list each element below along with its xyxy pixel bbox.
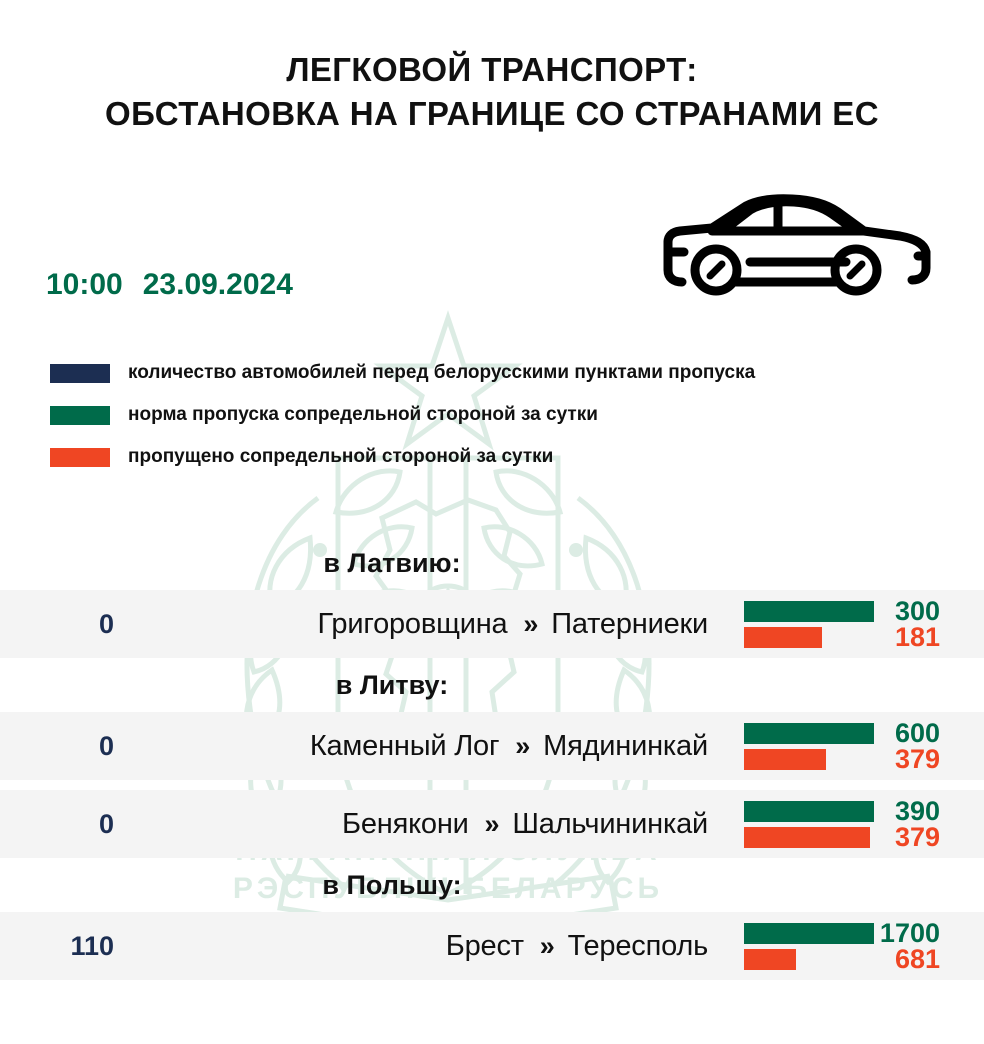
double-chevron-icon: »: [540, 931, 552, 961]
legend: количество автомобилей перед белорусским…: [50, 352, 950, 478]
value-norm: 390: [874, 798, 940, 824]
legend-label-queue: количество автомобилей перед белорусским…: [128, 363, 755, 383]
bar-norm: [744, 923, 874, 944]
value-norm: 1700: [874, 920, 940, 946]
table-row: 0 Григоровщина » Патерниеки 300 181: [0, 590, 984, 658]
bar-group: [744, 801, 874, 848]
legend-label-norm: норма пропуска сопредельной стороной за …: [128, 405, 598, 425]
route-to: Патерниеки: [551, 608, 708, 640]
table-row: 110 Брест » Тересполь 1700 681: [0, 912, 984, 980]
title-line-2: ОБСТАНОВКА НА ГРАНИЦЕ СО СТРАНАМИ ЕС: [0, 92, 984, 136]
double-chevron-icon: »: [485, 809, 497, 839]
value-norm: 300: [874, 598, 940, 624]
legend-swatch-green: [50, 406, 110, 425]
bar-passed: [744, 749, 826, 770]
queue-count: 0: [0, 809, 128, 840]
bar-group: [744, 601, 874, 648]
value-passed: 181: [874, 624, 940, 650]
route: Бенякони » Шальчининкай: [128, 808, 744, 841]
car-icon: [650, 190, 940, 300]
legend-item-passed: пропущено сопредельной стороной за сутки: [50, 436, 950, 478]
route-from: Каменный Лог: [310, 730, 500, 762]
double-chevron-icon: »: [523, 609, 535, 639]
double-chevron-icon: »: [515, 731, 527, 761]
bar-passed: [744, 627, 822, 648]
value-group: 600 379: [874, 720, 984, 772]
route-to: Тересполь: [568, 930, 708, 962]
route-from: Григоровщина: [318, 608, 508, 640]
route-from: Бенякони: [342, 808, 469, 840]
table-row: 0 Бенякони » Шальчининкай 390 379: [0, 790, 984, 858]
title-line-1: ЛЕГКОВОЙ ТРАНСПОРТ:: [0, 48, 984, 92]
value-passed: 379: [874, 824, 940, 850]
route: Брест » Тересполь: [128, 930, 744, 963]
route-to: Мядининкай: [543, 730, 708, 762]
page-title: ЛЕГКОВОЙ ТРАНСПОРТ: ОБСТАНОВКА НА ГРАНИЦ…: [0, 48, 984, 136]
bar-norm: [744, 801, 874, 822]
queue-count: 110: [0, 931, 128, 962]
legend-label-passed: пропущено сопредельной стороной за сутки: [128, 447, 553, 467]
bar-group: [744, 923, 874, 970]
infographic-page: ПАГРАНІЧНАЯ СЛУЖБА РЭСПУБЛІКІ БЕЛАРУСЬ Л…: [0, 0, 984, 1044]
route: Каменный Лог » Мядининкай: [128, 730, 744, 763]
legend-item-norm: норма пропуска сопредельной стороной за …: [50, 394, 950, 436]
value-group: 1700 681: [874, 920, 984, 972]
table-row: 0 Каменный Лог » Мядининкай 600 379: [0, 712, 984, 780]
value-passed: 379: [874, 746, 940, 772]
timestamp-date: 23.09.2024: [143, 268, 293, 301]
value-group: 300 181: [874, 598, 984, 650]
timestamp: 10:0023.09.2024: [46, 268, 293, 302]
queue-count: 0: [0, 731, 128, 762]
timestamp-time: 10:00: [46, 268, 123, 301]
value-group: 390 379: [874, 798, 984, 850]
section-heading-poland: в Польшу:: [0, 858, 984, 912]
section-heading-latvia: в Латвию:: [0, 536, 984, 590]
value-norm: 600: [874, 720, 940, 746]
border-crossing-table: в Латвию: 0 Григоровщина » Патерниеки 30…: [0, 536, 984, 980]
section-heading-lithuania: в Литву:: [0, 658, 984, 712]
bar-passed: [744, 827, 870, 848]
bar-passed: [744, 949, 796, 970]
route-to: Шальчининкай: [512, 808, 708, 840]
bar-norm: [744, 601, 874, 622]
legend-swatch-orange: [50, 448, 110, 467]
legend-item-queue: количество автомобилей перед белорусским…: [50, 352, 950, 394]
legend-swatch-navy: [50, 364, 110, 383]
queue-count: 0: [0, 609, 128, 640]
bar-group: [744, 723, 874, 770]
value-passed: 681: [874, 946, 940, 972]
route-from: Брест: [446, 930, 524, 962]
bar-norm: [744, 723, 874, 744]
route: Григоровщина » Патерниеки: [128, 608, 744, 641]
